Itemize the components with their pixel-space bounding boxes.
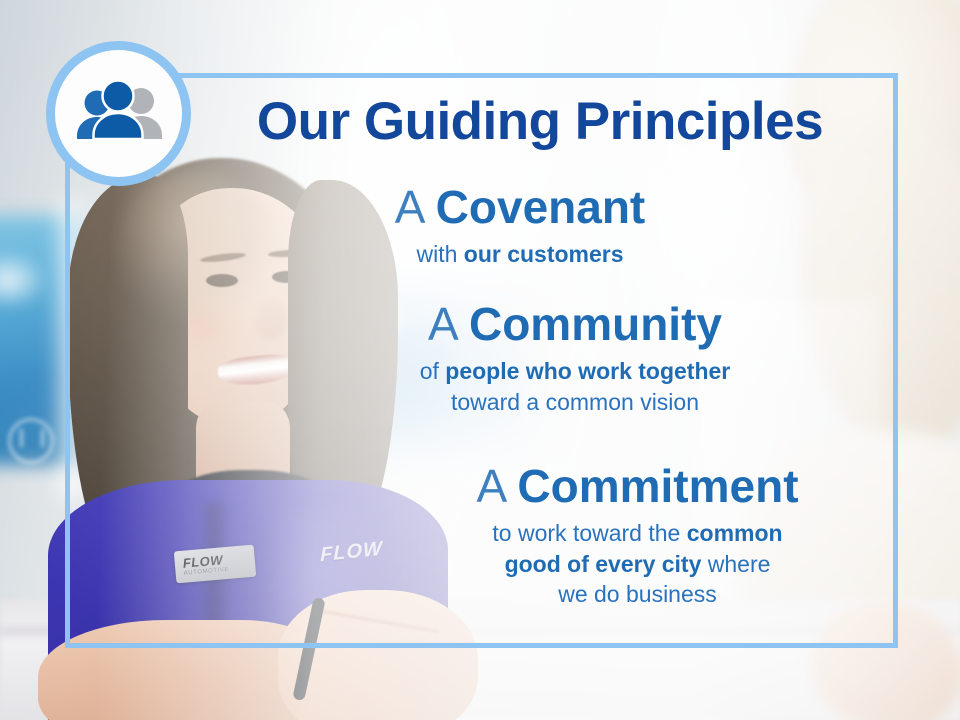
principle-description: with our customers <box>300 239 740 269</box>
page-title: Our Guiding Principles <box>200 94 880 150</box>
principle-keyword: Covenant <box>436 181 646 233</box>
principle-article: A <box>428 298 469 350</box>
people-badge <box>46 41 191 186</box>
principle-covenant: A Covenant with our customers <box>300 183 740 270</box>
principle-heading: A Commitment <box>405 462 870 510</box>
principle-community: A Community of people who work togethert… <box>345 300 805 417</box>
principle-keyword: Community <box>469 298 722 350</box>
principle-article: A <box>476 460 517 512</box>
principle-heading: A Community <box>345 300 805 348</box>
principle-description: to work toward the commongood of every c… <box>405 518 870 609</box>
guiding-principles-poster: FLOW FLOW AUTOMOTIVE Our Gu <box>0 0 960 720</box>
people-group-icon <box>71 79 167 149</box>
principle-heading: A Covenant <box>300 183 740 231</box>
principle-description: of people who work togethertoward a comm… <box>345 356 805 417</box>
principle-keyword: Commitment <box>517 460 798 512</box>
principle-commitment: A Commitment to work toward the commongo… <box>405 462 870 609</box>
principle-article: A <box>395 181 436 233</box>
